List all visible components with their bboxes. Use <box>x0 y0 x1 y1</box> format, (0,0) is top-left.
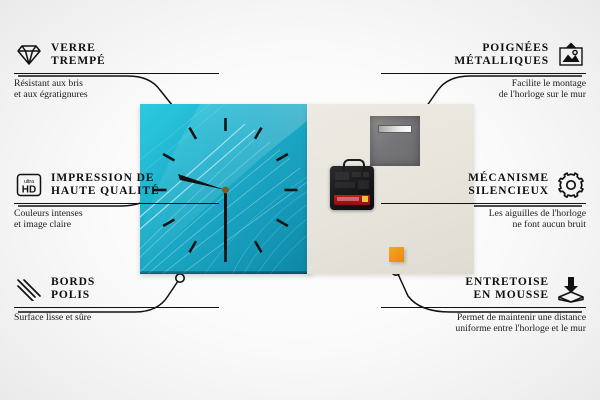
feature-divider <box>14 73 219 74</box>
feature-desc-line2: et image claire <box>14 219 71 230</box>
feature-divider <box>14 307 219 308</box>
metal-hanger-plate <box>370 116 420 166</box>
feature-poignees-metalliques: POIGNÉES MÉTALLIQUES Facilite le montage… <box>381 40 586 101</box>
feature-divider <box>381 307 586 308</box>
feature-impression-haute-qualite: ultra HD IMPRESSION DE HAUTE QUALITÉ Cou… <box>14 170 219 231</box>
hanger-slot <box>378 125 412 133</box>
feature-title-line1: MÉCANISME <box>468 172 549 184</box>
foam-spacer <box>389 247 404 262</box>
hanging-loop <box>343 159 365 170</box>
feature-title-line2: MÉTALLIQUES <box>454 55 549 67</box>
feature-title-line2: TREMPÉ <box>51 55 106 67</box>
feature-title-line1: VERRE <box>51 42 96 54</box>
feature-divider <box>14 203 219 204</box>
gear-icon <box>556 170 586 200</box>
feature-desc-line2: ne font aucun bruit <box>513 219 586 230</box>
ultra-hd-big-text: HD <box>22 185 36 196</box>
feature-title-line1: POIGNÉES <box>482 42 549 54</box>
feature-title-line1: BORDS <box>51 276 95 288</box>
feature-title-line2: EN MOUSSE <box>473 289 549 301</box>
clock-mechanism-box <box>330 166 374 210</box>
press-down-pad-icon <box>556 274 586 304</box>
feature-desc-line1: Facilite le montage <box>512 78 586 89</box>
feature-divider <box>381 203 586 204</box>
feature-desc-line2: et aux égratignures <box>14 89 88 100</box>
battery-label <box>337 197 359 201</box>
diamond-icon <box>14 40 44 70</box>
battery <box>334 195 370 205</box>
mechanism-texture <box>335 172 369 190</box>
feature-desc-line1: Les aiguilles de l'horloge <box>489 208 586 219</box>
feature-mecanisme-silencieux: MÉCANISME SILENCIEUX Les aiguilles de l'… <box>381 170 586 231</box>
feature-title-line2: POLIS <box>51 289 90 301</box>
feature-desc-line2: de l'horloge sur le mur <box>499 89 586 100</box>
feature-desc-line2: uniforme entre l'horloge et le mur <box>455 323 586 334</box>
feature-entretoise-en-mousse: ENTRETOISE EN MOUSSE Permet de maintenir… <box>381 274 586 335</box>
diagonal-lines-icon <box>14 274 44 304</box>
feature-title-line2: HAUTE QUALITÉ <box>51 185 160 197</box>
feature-verre-trempe: VERRE TREMPÉ Résistant aux bris et aux é… <box>14 40 219 101</box>
feature-title-line1: IMPRESSION DE <box>51 172 154 184</box>
feature-title-line2: SILENCIEUX <box>468 185 549 197</box>
battery-positive-terminal <box>362 196 368 202</box>
feature-bords-polis: BORDS POLIS Surface lisse et sûre <box>14 274 219 323</box>
feature-desc-line1: Permet de maintenir une distance <box>457 312 586 323</box>
ultra-hd-icon: ultra HD <box>14 170 44 200</box>
infographic-canvas: VERRE TREMPÉ Résistant aux bris et aux é… <box>0 0 600 400</box>
feature-desc-line1: Couleurs intenses <box>14 208 83 219</box>
feature-divider <box>381 73 586 74</box>
hanging-picture-icon <box>556 40 586 70</box>
feature-desc-line1: Surface lisse et sûre <box>14 312 91 323</box>
feature-title-line1: ENTRETOISE <box>465 276 549 288</box>
feature-desc-line1: Résistant aux bris <box>14 78 83 89</box>
